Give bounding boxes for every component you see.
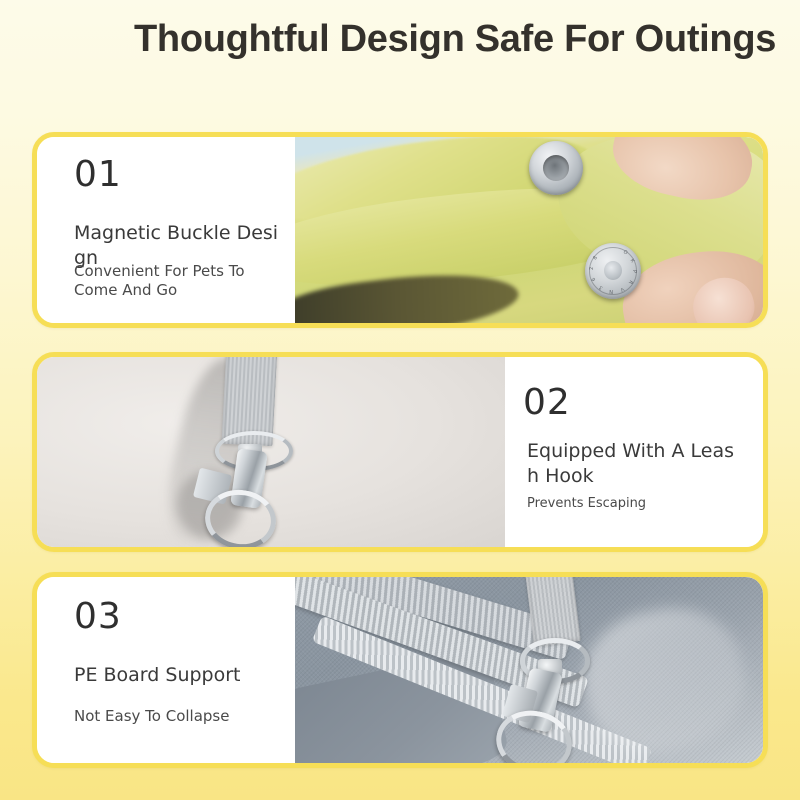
card-03-subtitle: Not Easy To Collapse [74,707,289,726]
infographic-page: Thoughtful Design Safe For Outings 01 Ma… [0,0,800,800]
card-03-number: 03 [74,599,122,635]
card-01-number: 01 [74,157,122,193]
feature-card-01: 01 Magnetic Buckle Design Convenient For… [32,132,768,328]
leash-hook-photo [37,357,505,547]
magnet-snap-stamp-text: OKPRVN3628 [585,243,641,299]
feature-card-03: 03 PE Board Support Not Easy To Collapse [32,572,768,768]
magnet-snap-bottom: OKPRVN3628 [585,243,641,299]
card-02-text-pane: 02 Equipped With A Leash Hook Prevents E… [505,357,763,547]
card-01-photo: OKPRVN3628 [295,137,763,323]
card-02-photo [37,357,505,547]
magnet-snap-hole [543,155,569,181]
card-02-number: 02 [523,385,571,421]
pe-board-strap-photo [295,577,763,763]
card-03-heading: PE Board Support [74,663,289,688]
card-01-subtitle: Convenient For Pets To Come And Go [74,262,284,300]
card-03-photo [295,577,763,763]
card-02-heading: Equipped With A Leash Hook [527,439,745,489]
card-01-text-pane: 01 Magnetic Buckle Design Convenient For… [37,137,295,323]
card-03-text-pane: 03 PE Board Support Not Easy To Collapse [37,577,295,763]
card-02-subtitle: Prevents Escaping [527,495,742,512]
feature-card-02: 02 Equipped With A Leash Hook Prevents E… [32,352,768,552]
page-title: Thoughtful Design Safe For Outings [134,16,780,62]
magnet-snap-top [529,141,583,195]
magnetic-buckle-photo: OKPRVN3628 [295,137,763,323]
webbing-strap [524,577,580,646]
